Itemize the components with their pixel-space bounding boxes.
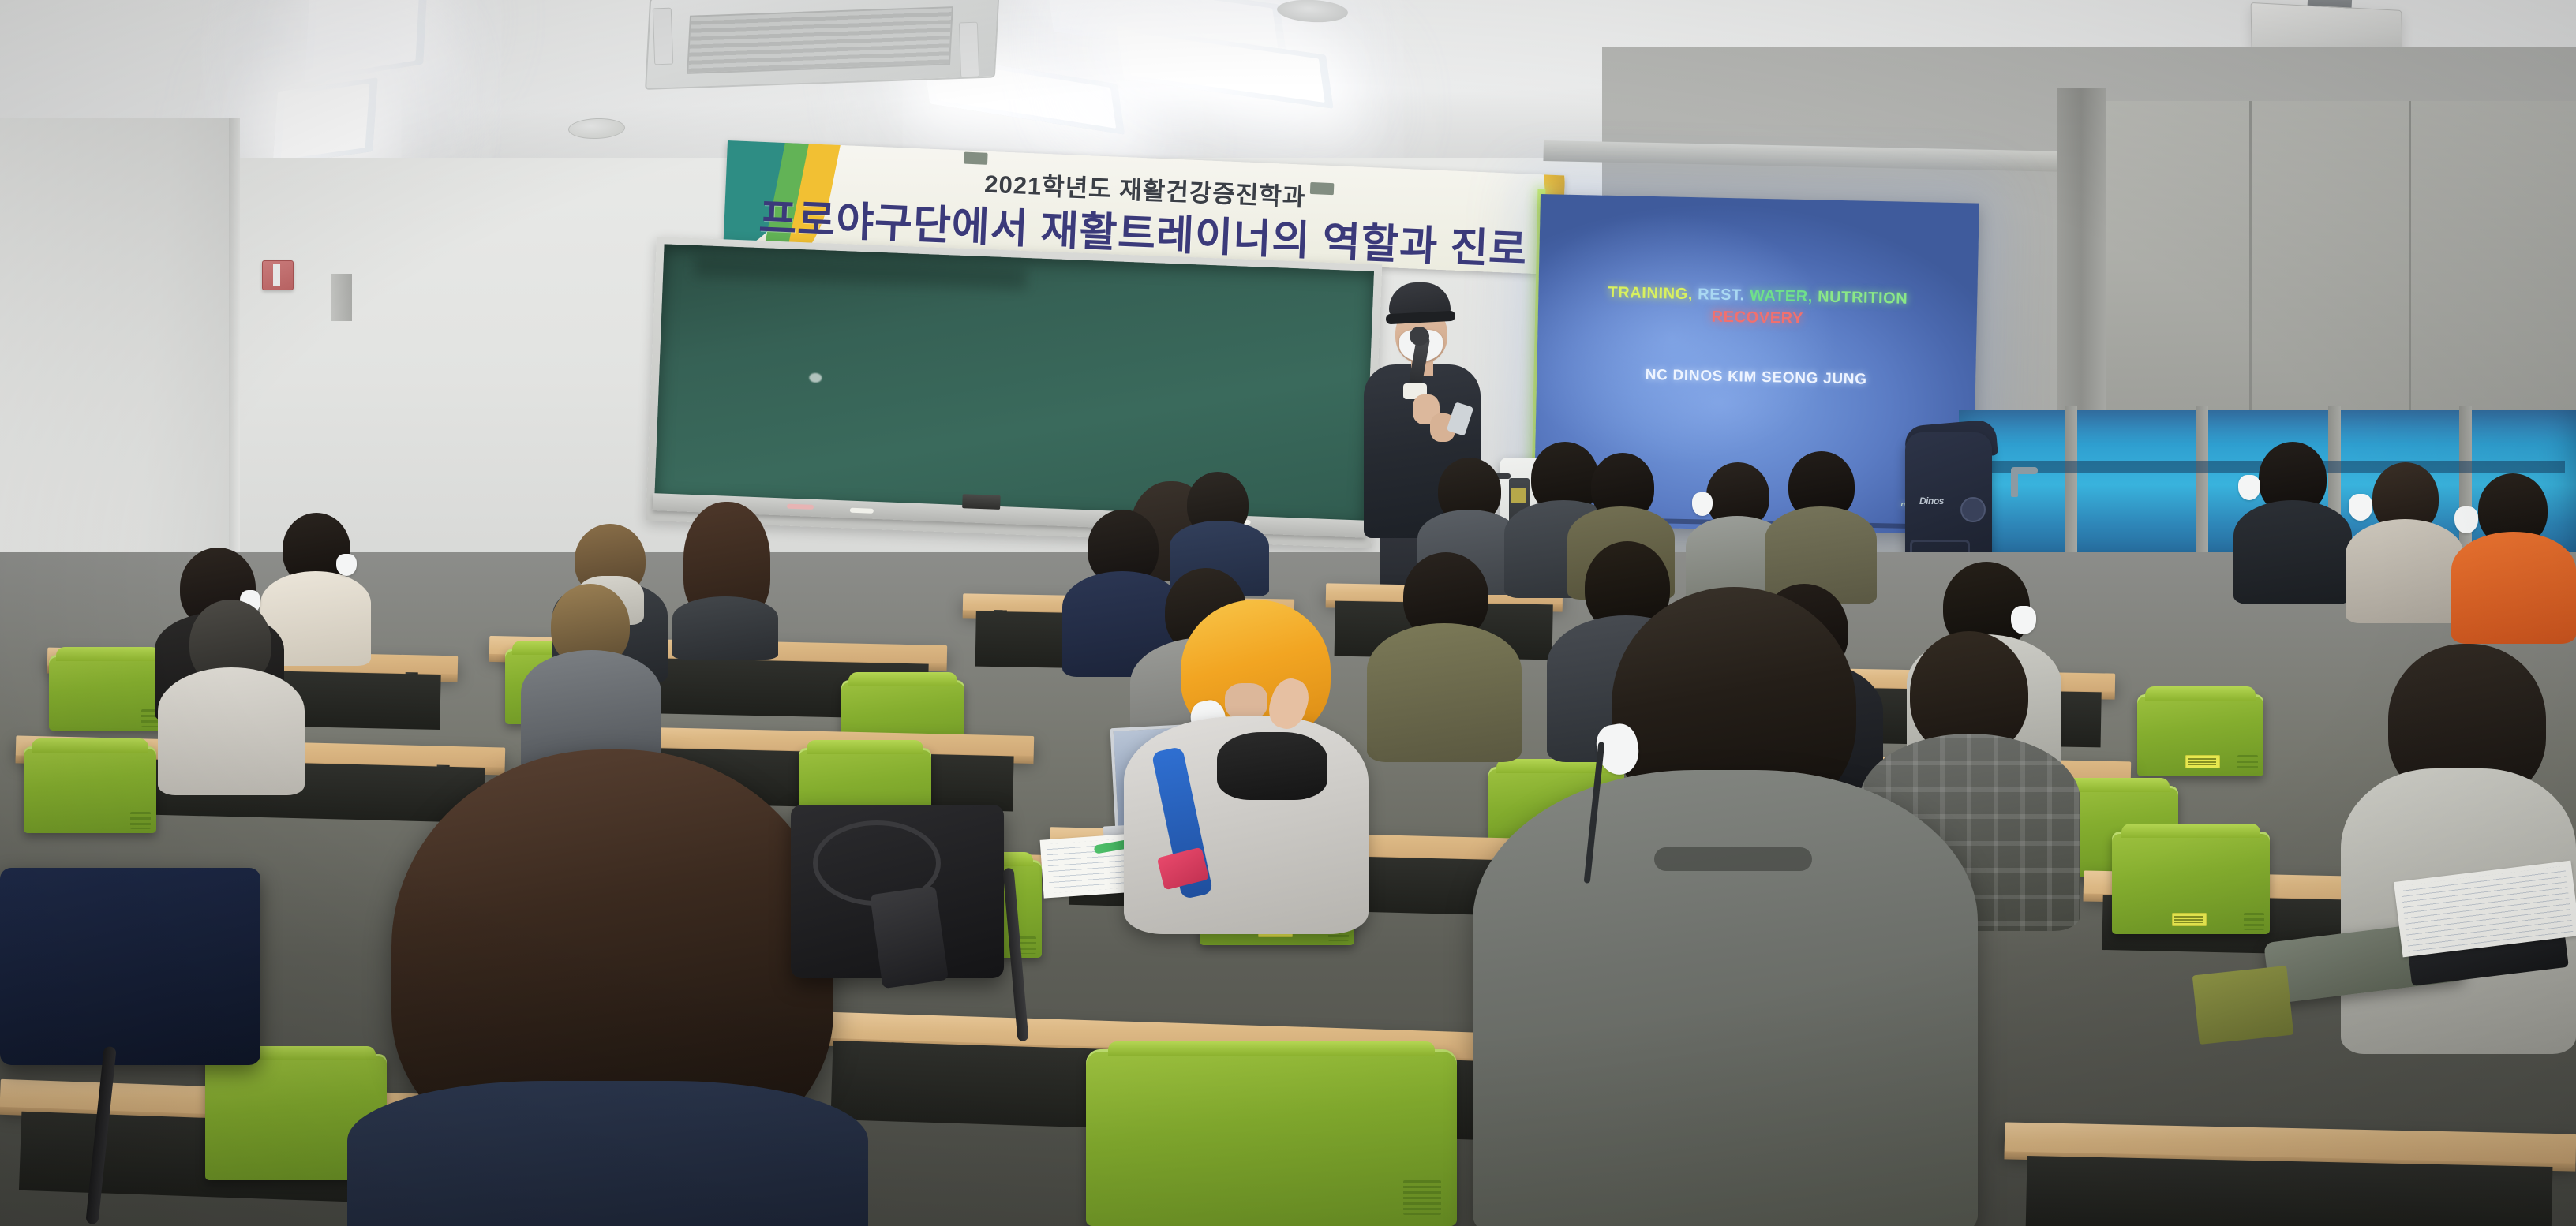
chair-back-right <box>2192 966 2294 1045</box>
neck <box>1225 683 1267 720</box>
slide-word-rest: REST. <box>1698 286 1745 304</box>
fire-alarm-box[interactable] <box>262 260 294 290</box>
window-mullion <box>2065 406 2077 568</box>
student-row3-grey-hood <box>158 600 305 789</box>
slide-word-nutrition: NUTRITION <box>1818 288 1908 307</box>
chalk-smudge <box>695 255 1027 290</box>
student-far-olive-2 <box>1765 451 1877 598</box>
student-far-orange-right <box>2451 473 2576 639</box>
sweater-collar <box>1654 847 1812 871</box>
face-mask <box>2011 606 2036 634</box>
chair-vent <box>2237 755 2258 772</box>
navy-top <box>347 1081 868 1226</box>
board-support-post <box>331 274 352 321</box>
hoodie-collar <box>1217 732 1327 800</box>
face-mask <box>2238 475 2260 500</box>
blind-seam <box>2249 101 2252 432</box>
paper-lines <box>2401 866 2574 952</box>
torso <box>158 667 305 795</box>
blind-seam <box>2409 101 2411 432</box>
air-conditioner-vane <box>959 22 979 78</box>
air-conditioner-vane <box>653 8 673 65</box>
chair-certification-label <box>2185 755 2220 768</box>
torso <box>2346 519 2464 623</box>
chair-vent <box>130 812 151 829</box>
torso <box>2451 532 2576 644</box>
faucet-icon <box>2011 470 2018 497</box>
desk-modesty-panel <box>2026 1156 2553 1226</box>
classroom-photograph: 2021학년도 재활건강증진학과 프로야구단에서 재활트레이너의 역할과 진로 … <box>0 0 2576 1226</box>
torso <box>672 596 778 660</box>
slide-word-water: WATER, <box>1750 287 1813 306</box>
torso <box>2233 500 2352 604</box>
window-mullion <box>2196 406 2208 568</box>
face-mask <box>2349 494 2372 521</box>
chair-vent <box>1403 1180 1441 1215</box>
navy-bag-foreground[interactable] <box>0 868 260 1065</box>
student-far-black-right <box>2233 442 2352 600</box>
projector-hotspot <box>1533 209 1840 469</box>
ceiling-light-fixture <box>272 77 377 166</box>
backpack-side-pocket <box>870 886 949 989</box>
student-far-beige-right <box>2346 462 2464 619</box>
classroom-chair[interactable] <box>49 655 167 731</box>
face-mask <box>2454 506 2478 533</box>
window-blind-panel <box>2106 101 2576 432</box>
student-row2-brown-hair <box>672 502 778 647</box>
grey-sweater <box>1473 770 1978 1226</box>
air-conditioner-grill <box>687 6 953 74</box>
classroom-chair-front[interactable] <box>1086 1049 1457 1226</box>
backpack-badge-icon <box>1960 497 1986 522</box>
chalk-smudge <box>809 373 822 383</box>
face-mask <box>1692 492 1713 516</box>
slide-word-recovery: RECOVERY <box>1711 308 1803 327</box>
student-front-long-hair <box>347 749 868 1226</box>
backpack-logo: Dinos <box>1919 495 1944 506</box>
classroom-chair[interactable] <box>24 746 156 833</box>
chair-certification-label <box>2172 913 2207 926</box>
student-blonde-hoodie <box>1124 600 1368 931</box>
student-front-grey-sweater <box>1473 587 1978 1226</box>
chair-vent <box>2244 913 2264 930</box>
slide-word-training: TRAINING, <box>1608 284 1693 303</box>
chalkboard-eraser[interactable] <box>962 494 1001 510</box>
classroom-chair[interactable] <box>2137 694 2263 776</box>
face-mask <box>336 554 357 576</box>
student-row3-hoodie <box>521 584 661 773</box>
chalk-stick[interactable] <box>850 508 874 514</box>
classroom-chair[interactable] <box>2112 832 2270 934</box>
chalk-stick[interactable] <box>787 504 814 510</box>
